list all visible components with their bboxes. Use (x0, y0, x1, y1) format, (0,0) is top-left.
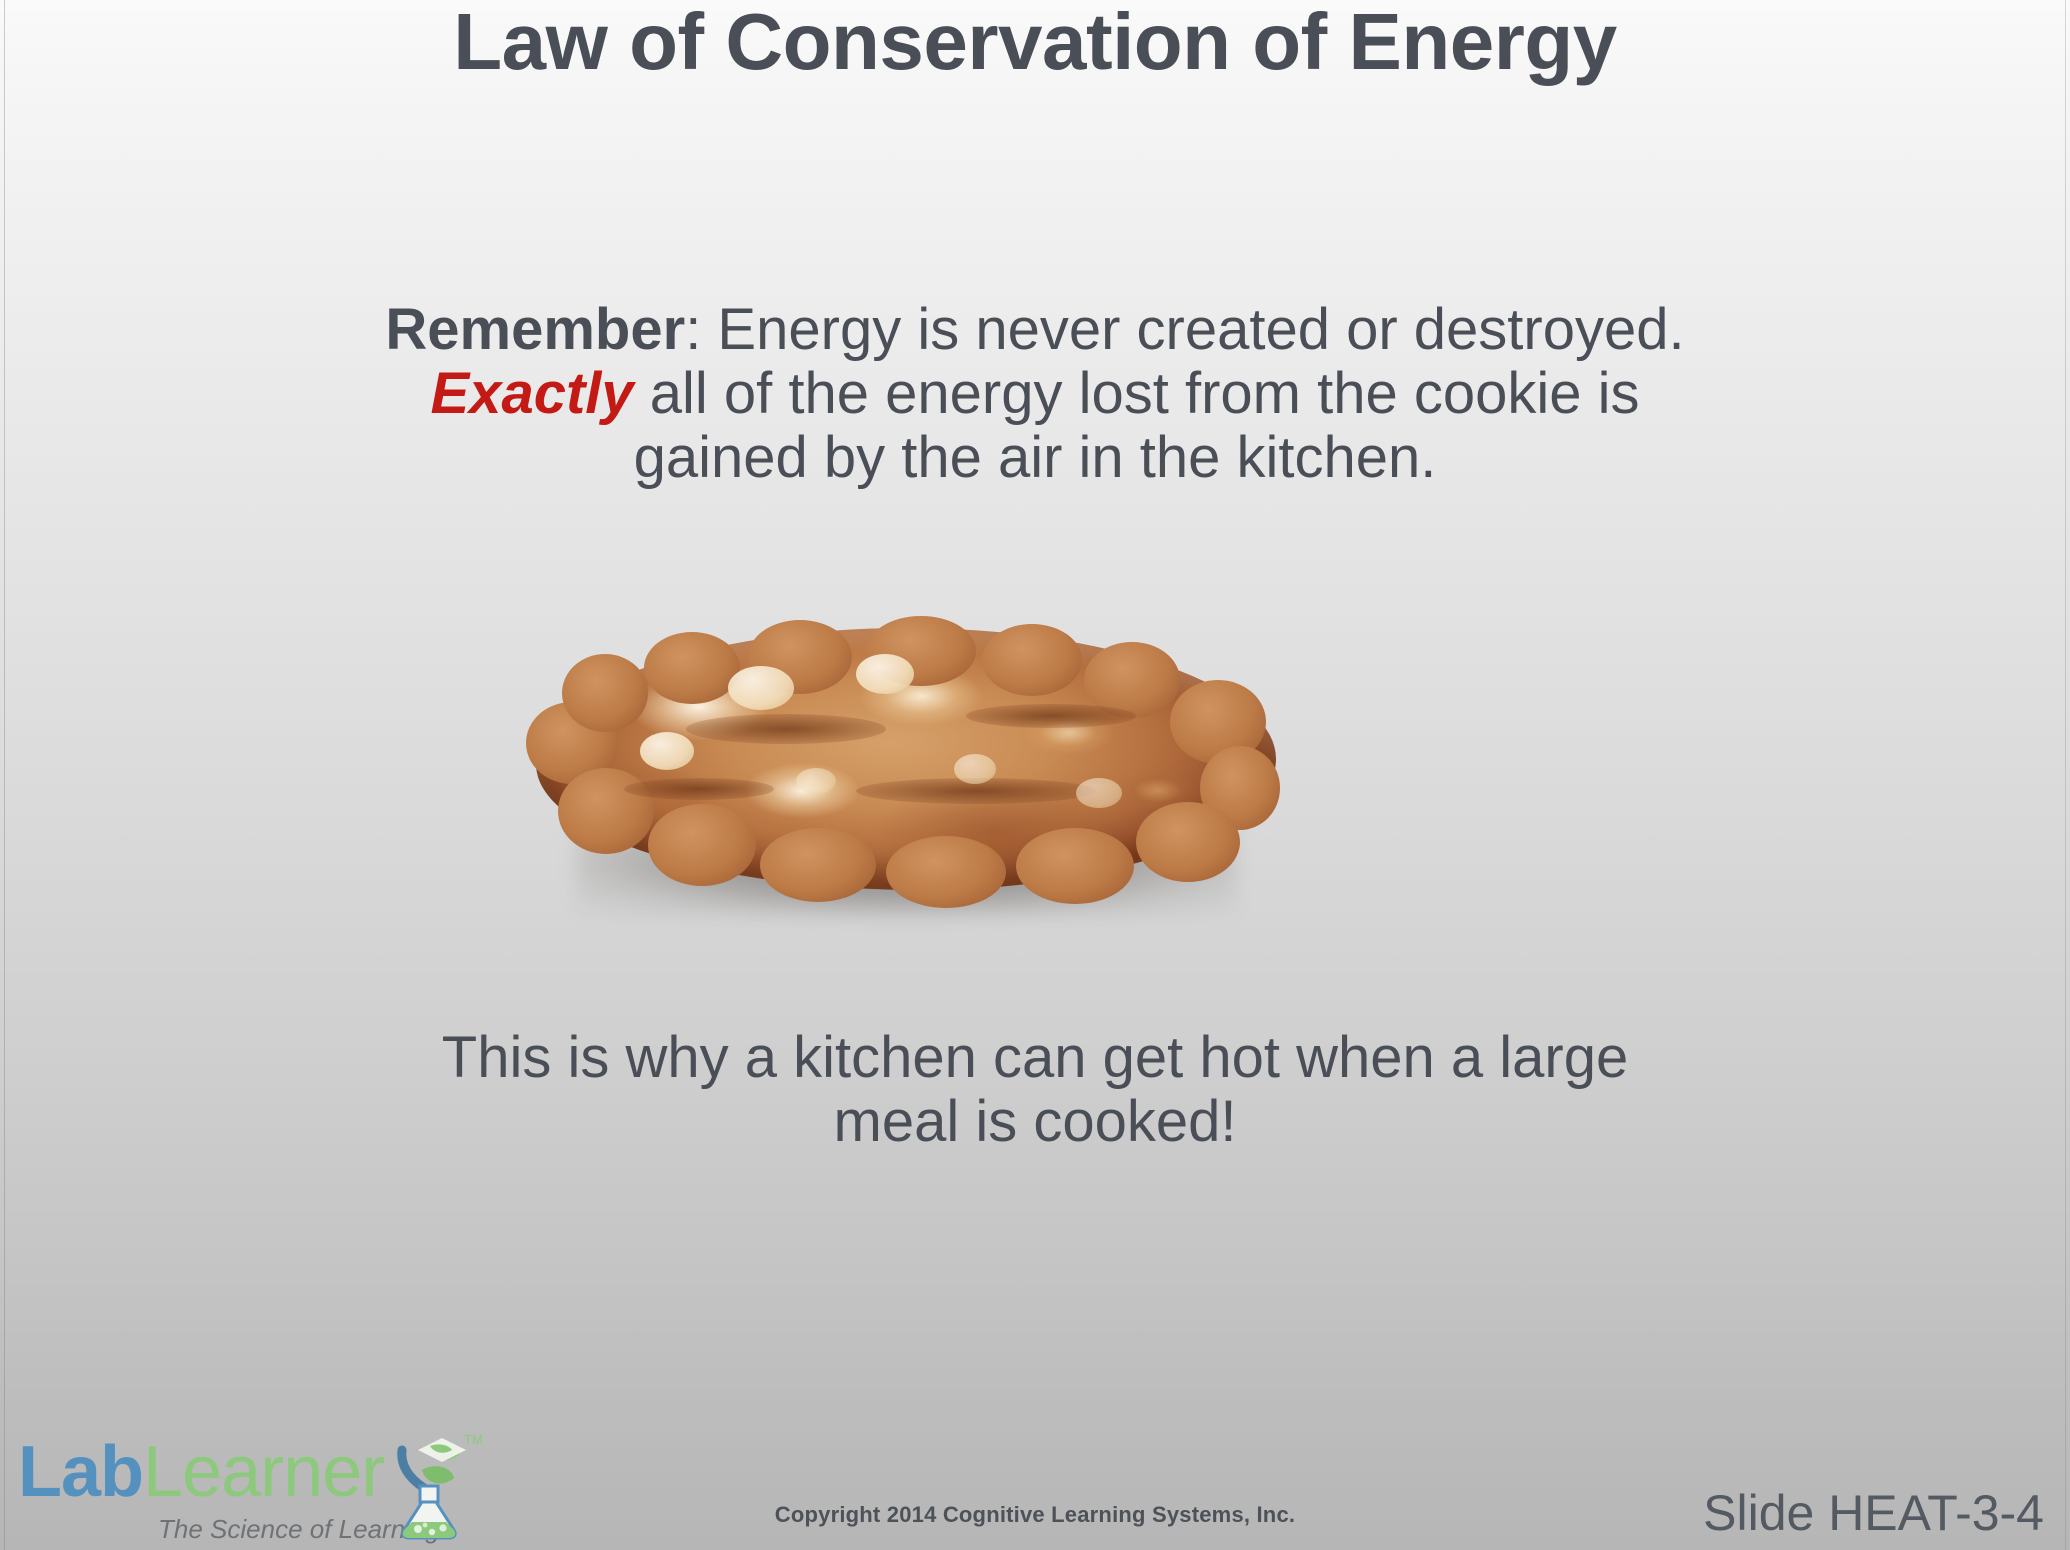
logo-text-learner: Learner (143, 1432, 384, 1512)
body-lead-label: Remember (385, 297, 685, 362)
cookie-image (536, 628, 1276, 918)
logo-wordmark: LabLearner (18, 1436, 384, 1508)
body-emphasis-word: Exactly (431, 361, 634, 426)
slide-number: Slide HEAT-3-4 (1703, 1484, 2044, 1542)
body-segment-two: all of the energy lost from the cookie i… (634, 361, 1640, 490)
slide-title: Law of Conservation of Energy (0, 2, 2070, 82)
logo-text-lab: Lab (18, 1432, 143, 1512)
closing-statement: This is why a kitchen can get hot when a… (385, 1026, 1685, 1154)
body-segment-one: : Energy is never created or destroyed. (685, 297, 1684, 362)
cookie-body (536, 628, 1276, 890)
slide-canvas: Law of Conservation of Energy Remember: … (0, 0, 2070, 1550)
trademark-mark: TM (464, 1432, 483, 1447)
body-paragraph: Remember: Energy is never created or des… (385, 298, 1685, 490)
